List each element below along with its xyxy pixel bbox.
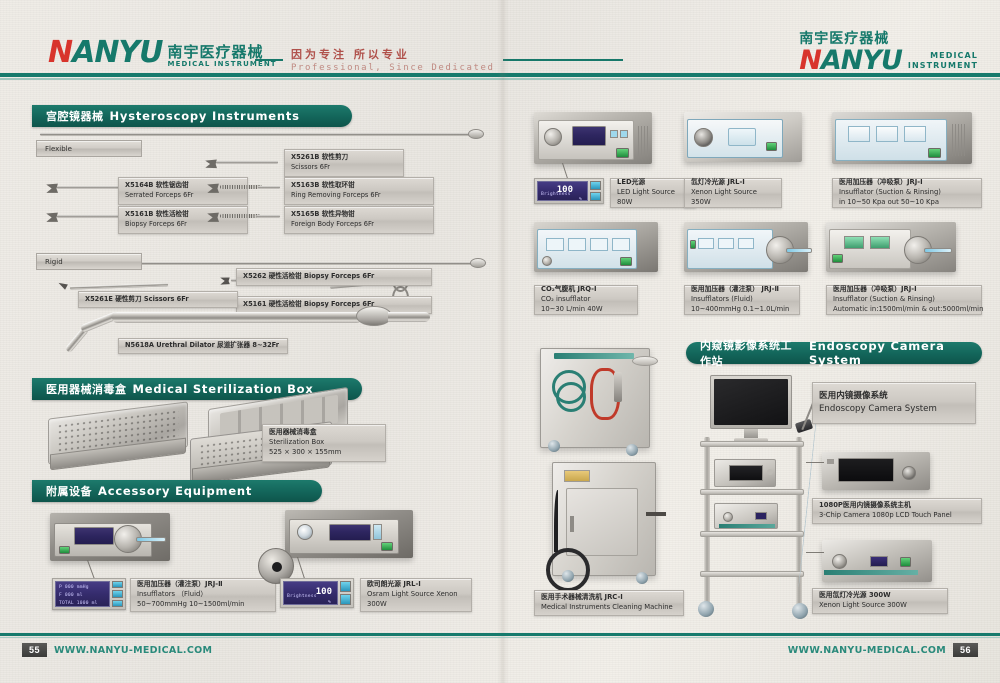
wordmark-nanyu: NANYU [48, 38, 163, 68]
light-source-stripe [719, 524, 775, 528]
caption-en: LED Light Source [617, 188, 689, 198]
lcd-line-3: TOTAL 1000 ml [59, 601, 98, 606]
button-up[interactable] [590, 181, 601, 190]
button-down[interactable] [112, 590, 123, 597]
lcd-unit: % [579, 197, 582, 202]
tubing-connector [786, 248, 812, 253]
device-front-panel [829, 229, 911, 269]
lcd-screen: P 000 mmHg F 000 ml TOTAL 1000 ml [55, 581, 110, 607]
caster-wheel [792, 603, 808, 619]
display-field [876, 126, 898, 142]
power-button [832, 254, 843, 263]
caption-en: Medical Instruments Cleaning Machine [541, 603, 677, 613]
light-source-display [755, 512, 767, 520]
caption-x5161b: X5161B 软性活检钳 Biopsy Forceps 6Fr [118, 206, 248, 234]
caption-en: Scissors 6Fr [291, 163, 397, 173]
caption-x5262: X5262 硬性活检钳 Biopsy Forceps 6Fr [236, 268, 432, 286]
display-field [546, 238, 564, 251]
caption-insufflator-suction-1: 医用加压器（冲吸泵）JRJ-Ⅰ Insufflator (Suction & R… [832, 178, 982, 208]
caption-x5165b: X5165B 软性异物钳 Foreign Body Forceps 6Fr [284, 206, 434, 234]
indicator-strip [373, 524, 382, 540]
caption-spec: 350W [691, 198, 775, 208]
caption-x5164b: X5164B 软性锯齿钳 Serrated Forceps 6Fr [118, 177, 248, 205]
lcd-screen: Brightness 100 % [537, 181, 588, 201]
caption-cn: 医用加压器（冲吸泵）JRJ-Ⅰ [839, 178, 975, 188]
cleaning-machine-lower [546, 462, 676, 592]
caster-wheel [548, 440, 560, 452]
display-field [870, 236, 890, 249]
page-number-left: 55 [22, 643, 47, 657]
device-front-panel [687, 229, 773, 269]
caption-spec: 300W [367, 600, 465, 610]
display-field [848, 126, 870, 142]
lcd-line-1: P 000 mmHg [59, 585, 89, 590]
indicator-led [610, 130, 618, 138]
lcd-value: 100 [316, 587, 332, 597]
instrument-coil [220, 185, 262, 189]
caption-cn: 医用器械消毒盒 [269, 428, 379, 438]
caption-en: Serrated Forceps 6Fr [125, 191, 241, 201]
slogan-block: 因为专注 所以专业 Professional, Since Dedicated [255, 46, 623, 73]
light-source-display [870, 556, 888, 567]
display-field [568, 238, 586, 251]
device-screen [74, 527, 114, 545]
slogan-cn: 因为专注 所以专业 [291, 46, 495, 62]
display-field [612, 238, 630, 251]
caption-en: Xenon Light Source 300W [819, 601, 941, 611]
caption-spec: 10~400mmHg 0.1~1.0L/min [691, 305, 793, 315]
adapter-aperture [272, 562, 282, 572]
footer-right: WWW.NANYU-MEDICAL.COM 56 [788, 643, 978, 657]
caption-en: Insufflator (Suction & Rinsing) [833, 295, 975, 305]
section-en-sterilization: Medical Sterilization Box [133, 382, 314, 396]
readout-osram-light: Brightness 100 % [280, 578, 354, 608]
vent-grille [638, 126, 650, 156]
caption-en: CO₂ insufflator [541, 295, 631, 305]
control-pad [728, 128, 756, 146]
hose-coil-teal [556, 382, 586, 412]
light-port-knob [297, 524, 313, 540]
readout-insufflator-fluid: P 000 mmHg F 000 ml TOTAL 1000 ml [52, 578, 126, 610]
header-rule-secondary [0, 78, 1000, 80]
device-osram-light-source [285, 510, 413, 558]
sterilization-box-closed [48, 410, 188, 470]
section-cn-hysteroscopy: 宫腔镜器械 [46, 108, 104, 124]
dilator-bulb [356, 306, 392, 326]
button-down[interactable] [340, 594, 351, 605]
caption-en: Sterilization Box [269, 438, 379, 448]
light-port-knob [544, 128, 562, 146]
camera-control-unit [714, 459, 776, 487]
device-xenon-light-source [684, 112, 802, 162]
machine-badge [564, 470, 590, 482]
caption-cn: CO₂气腹机 JRQ-Ⅰ [541, 285, 631, 295]
caption-cn: 医用内镜摄像系统 [819, 390, 969, 403]
device-insufflator-suction-1 [832, 112, 972, 164]
trolley-post-left [704, 437, 710, 609]
readout-led-light: Brightness 100 % [534, 178, 604, 204]
monitor-screen [714, 379, 788, 425]
lcd-unit: % [328, 600, 331, 605]
caption-camera-system-main: 医用内镜摄像系统 Endoscopy Camera System [812, 382, 976, 424]
wordmark-letter-n-right: N [799, 45, 821, 76]
device-screen [572, 126, 606, 146]
instrument-shaft [256, 215, 280, 218]
power-button [900, 557, 911, 567]
display-field [844, 236, 864, 249]
machine-label-strip [554, 353, 634, 359]
light-port-knob [832, 554, 847, 569]
caption-en: Xenon Light Source [691, 188, 775, 198]
power-button [928, 148, 941, 158]
section-en-accessory: Accessory Equipment [98, 484, 252, 498]
book-spine-shadow [497, 0, 509, 683]
door-handle [570, 516, 574, 532]
vent-grille [952, 124, 966, 156]
section-header-accessory: 附属设备 Accessory Equipment [32, 480, 322, 502]
power-button [381, 542, 393, 551]
caster-wheel [636, 572, 648, 584]
section-header-camera: 内窥镜影像系统工作站 Endoscopy Camera System [686, 342, 982, 364]
instrument-shaft [258, 186, 280, 189]
callout-leader [806, 462, 824, 463]
display-field [904, 126, 926, 142]
device-co2-insufflator [534, 222, 658, 272]
caption-spec: 50~700mmHg 10~1500ml/min [137, 600, 269, 610]
caption-cn: 医用加压器（冲吸泵）JRJ-Ⅰ [833, 285, 975, 295]
device-screen [329, 524, 371, 541]
header-rule-primary [0, 73, 1000, 77]
caster-wheel [562, 570, 574, 582]
caption-cn: 医用加压器（灌注泵） JRJ-Ⅱ [691, 285, 793, 295]
caption-spec: 80W [617, 198, 689, 208]
caption-co2-insufflator: CO₂气腹机 JRQ-Ⅰ CO₂ insufflator 10~30 L/min… [534, 285, 638, 315]
footer-url-right[interactable]: WWW.NANYU-MEDICAL.COM [788, 645, 946, 656]
display-field [718, 238, 734, 249]
instrument-shaft [70, 283, 168, 289]
catalog-page: NANYU 南宇医疗器械 MEDICAL INSTRUMENT 因为专注 所以专… [0, 0, 1000, 683]
caption-en: Insufflators (Fluid) [691, 295, 793, 305]
footer-rule-primary [0, 633, 1000, 636]
monitor-stand [744, 429, 758, 438]
lcd-screen: Brightness 100 % [283, 581, 338, 605]
slogan-rule-right [503, 59, 623, 61]
button-set[interactable] [112, 600, 123, 607]
caption-en: Insufflator (Suction & Rinsing) [839, 188, 975, 198]
caption-en: Osram Light Source Xenon [367, 590, 465, 600]
trolley-shelf-1 [700, 441, 804, 447]
instrument-coil [220, 214, 260, 218]
monitor-display [710, 375, 792, 429]
caption-spec: 10~30 L/min 40W [541, 305, 631, 315]
caption-xenon-300w: 医用氙灯冷光源 300W Xenon Light Source 300W [812, 588, 948, 614]
hose-line [554, 490, 560, 552]
device-camera-main-unit [822, 452, 930, 490]
caption-en: 3-Chip Camera 1080p LCD Touch Panel [819, 511, 975, 521]
tubing-connector [924, 248, 952, 253]
caption-line: X5161 硬性活检钳 Biopsy Forceps 6Fr [243, 300, 425, 310]
caption-line: N5618A Urethral Dilator 尿道扩张器 8~32Fr [125, 341, 281, 351]
dilator-handle [388, 312, 430, 322]
group-tag-flexible: Flexible [36, 140, 142, 157]
caption-cn: 医用手术器械清洗机 JRC-Ⅰ [541, 593, 677, 603]
lcd-line-2: F 000 ml [59, 593, 83, 598]
device-insufflator-suction-2 [826, 222, 956, 272]
button-up[interactable] [112, 581, 123, 588]
caption-insufflator-fluid: 医用加压器（灌注泵）JRJ-Ⅱ Insufflators （Fluid） 50~… [130, 578, 276, 612]
light-port-knob [694, 128, 713, 147]
caption-insufflator-suction-2: 医用加压器（冲吸泵）JRJ-Ⅰ Insufflator (Suction & R… [826, 285, 982, 315]
caption-n5618a: N5618A Urethral Dilator 尿道扩张器 8~32Fr [118, 338, 288, 354]
brand-en-line1: MEDICAL [908, 51, 978, 61]
section-en-hysteroscopy: Hysteroscopy Instruments [110, 109, 300, 123]
power-button [59, 546, 70, 554]
section-en-camera: Endoscopy Camera System [809, 339, 982, 367]
footer-rule-secondary [0, 637, 1000, 638]
logo-right: 南宇医疗器械 NANYU MEDICAL INSTRUMENT [799, 32, 978, 74]
light-source-stripe [824, 570, 918, 575]
trolley-shelf-3 [700, 531, 804, 537]
trolley-light-source [714, 503, 778, 529]
caption-insufflator-fluid-2: 医用加压器（灌注泵） JRJ-Ⅱ Insufflators (Fluid) 10… [684, 285, 800, 315]
power-button [620, 257, 632, 266]
caption-line: X5261E 硬性剪刀 Scissors 6Fr [85, 295, 231, 305]
caption-cn: LED光源 [617, 178, 689, 188]
readout-buttons[interactable] [338, 581, 351, 605]
caption-osram-light: 欧司朗光源 JRL-Ⅰ Osram Light Source Xenon 300… [360, 578, 472, 612]
group-tag-rigid: Rigid [36, 253, 142, 270]
gas-inlet-port [542, 256, 552, 266]
display-field [698, 238, 714, 249]
section-cn-sterilization: 医用器械消毒盒 [46, 381, 127, 397]
jaw-icon [57, 280, 68, 290]
device-insufflator-fluid-2 [684, 222, 808, 272]
caption-spec: in 10~50 Kpa out 50~10 Kpa [839, 198, 975, 208]
display-field [590, 238, 608, 251]
caption-en: Foreign Body Forceps 6Fr [291, 220, 427, 230]
caption-en: Ring Removing Forceps 6Fr [291, 191, 427, 201]
section-header-hysteroscopy: 宫腔镜器械 Hysteroscopy Instruments [32, 105, 352, 127]
trolley-shelf-4 [700, 571, 804, 577]
caption-xenon-light-source: 氙灯冷光源 JRL-Ⅰ Xenon Light Source 350W [684, 178, 782, 208]
scope-tip-1 [468, 129, 484, 139]
caption-cn: 医用氙灯冷光源 300W [819, 591, 941, 601]
footer-url-left[interactable]: WWW.NANYU-MEDICAL.COM [54, 645, 212, 656]
brand-en-line2: INSTRUMENT [908, 61, 978, 71]
indicator-led [620, 130, 628, 138]
camera-connector-port [902, 466, 916, 480]
readout-buttons[interactable] [588, 181, 601, 201]
device-insufflator-fluid [50, 513, 170, 561]
caption-en: Biopsy Forceps 6Fr [125, 220, 241, 230]
page-number-right: 56 [953, 643, 978, 657]
caption-camera-main-unit: 1080P医用内镜摄像系统主机 3-Chip Camera 1080p LCD … [812, 498, 982, 524]
callout-leader [806, 552, 824, 553]
basin-tray [632, 356, 658, 366]
power-button [616, 148, 629, 158]
touch-panel-screen [838, 458, 894, 482]
trolley-shelf-2 [700, 489, 804, 495]
wordmark-rest: ANYU [72, 35, 162, 70]
page-header: NANYU 南宇医疗器械 MEDICAL INSTRUMENT 因为专注 所以专… [0, 0, 1000, 78]
light-port-knob [723, 512, 733, 522]
caption-cn: 1080P医用内镜摄像系统主机 [819, 501, 975, 511]
caption-x5261b: X5261B 软性剪刀 Scissors 6Fr [284, 149, 404, 177]
wordmark-nanyu-right: NANYU [799, 47, 902, 74]
access-door [566, 488, 638, 556]
caption-x5261e: X5261E 硬性剪刀 Scissors 6Fr [78, 291, 238, 308]
caption-cn: 欧司朗光源 JRL-Ⅰ [367, 580, 465, 590]
caption-cn: X5261B 软性剪刀 [291, 153, 397, 163]
side-valve [646, 512, 666, 516]
tubing-connector [136, 537, 166, 542]
device-xenon-300w [822, 540, 932, 582]
ccu-screen [729, 465, 763, 481]
caption-cn: 医用加压器（灌注泵）JRJ-Ⅱ [137, 580, 269, 590]
caption-x5163b: X5163B 软性取环钳 Ring Removing Forceps 6Fr [284, 177, 434, 205]
slogan-rule-left [255, 59, 283, 61]
spray-gun [614, 372, 622, 402]
wordmark-letter-n: N [48, 35, 72, 70]
caption-cn: X5165B 软性异物钳 [291, 210, 427, 220]
caption-en: Endoscopy Camera System [819, 403, 969, 416]
caster-wheel [626, 444, 638, 456]
caster-wheel [698, 601, 714, 617]
power-button [766, 142, 777, 151]
device-led-light-source [534, 112, 652, 164]
section-cn-camera: 内窥镜影像系统工作站 [700, 337, 803, 369]
logo-left: NANYU 南宇医疗器械 MEDICAL INSTRUMENT [48, 38, 277, 68]
page-footer: 55 WWW.NANYU-MEDICAL.COM WWW.NANYU-MEDIC… [0, 633, 1000, 683]
dilator-shaft [112, 312, 362, 323]
ccu-port [767, 469, 773, 475]
section-cn-accessory: 附属设备 [46, 483, 92, 499]
caption-cn: 氙灯冷光源 JRL-Ⅰ [691, 178, 775, 188]
unit-button [827, 459, 834, 464]
scope-tip-2 [470, 258, 486, 268]
button-down[interactable] [590, 192, 601, 201]
caption-cn: X5163B 软性取环钳 [291, 181, 427, 191]
readout-buttons[interactable] [110, 581, 123, 607]
lcd-label: Brightness [287, 594, 317, 599]
caption-line: X5262 硬性活检钳 Biopsy Forceps 6Fr [243, 272, 425, 282]
button-up[interactable] [340, 581, 351, 592]
wordmark-rest-right: ANYU [821, 45, 902, 76]
caption-spec: Automatic in:1500ml/min & out:5000ml/min [833, 305, 975, 315]
flexible-scope-rod-1 [40, 133, 470, 136]
instrument-shaft [216, 161, 278, 164]
footer-left: 55 WWW.NANYU-MEDICAL.COM [22, 643, 212, 657]
display-field [738, 238, 754, 249]
caption-sterilization-box: 医用器械消毒盒 Sterilization Box 525 × 300 × 15… [262, 424, 386, 462]
power-button [690, 240, 696, 249]
caption-spec: 525 × 300 × 155mm [269, 448, 379, 458]
slogan-en: Professional, Since Dedicated [291, 63, 495, 73]
caption-en: Insufflators （Fluid） [137, 590, 269, 600]
cleaning-machine-upper [540, 348, 660, 458]
lcd-value: 100 [557, 185, 573, 195]
caption-cleaning-machine: 医用手术器械清洗机 JRC-Ⅰ Medical Instruments Clea… [534, 590, 684, 616]
